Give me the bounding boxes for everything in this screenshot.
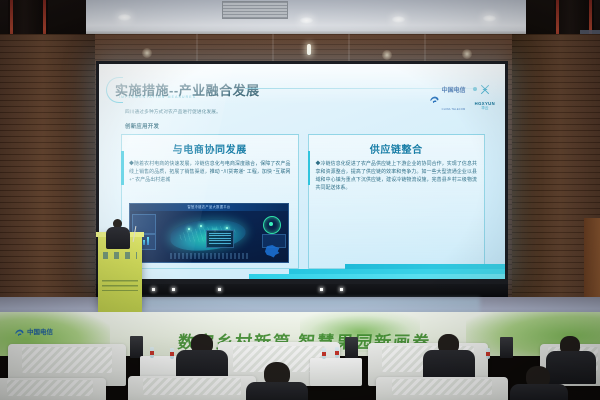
wall-lamp [462, 49, 472, 59]
dashboard-caption-text [170, 253, 250, 259]
dashboard-thumbnail: 智慧冷链农产品大数据平台 [129, 203, 289, 263]
downlight [392, 16, 405, 23]
water-bottle [170, 348, 174, 359]
presenter-body [106, 227, 130, 249]
china-telecom-logo: 中国电信 CHINA TELECOM [429, 79, 466, 115]
dashboard-bar [147, 237, 149, 245]
wall-lamp [142, 48, 152, 58]
dashboard-bar [143, 240, 145, 245]
dashboard-map-point [226, 227, 228, 229]
card-accent-bar [308, 151, 311, 185]
slide-logo-group: 中国电信 CHINA TELECOM HGXYUN 华云 [429, 79, 495, 115]
presenter [106, 219, 130, 249]
water-bottle [486, 348, 490, 359]
downlight [300, 17, 313, 24]
card-accent-bar [121, 151, 124, 185]
stage-edge-light [218, 288, 221, 291]
sofa-seat [128, 376, 256, 400]
hgxyun-logo: HGXYUN 华云 [475, 83, 495, 111]
backdrop-logo-text: 中国电信 [27, 326, 53, 336]
china-telecom-name-cn: 中国电信 [442, 88, 466, 94]
sofa-drape [22, 347, 112, 372]
floor-monitor-speaker [130, 336, 143, 358]
ceiling-air-vent [222, 1, 288, 19]
water-bottle [322, 348, 326, 359]
floor-monitor-speaker [345, 337, 358, 358]
downlight [483, 15, 496, 22]
water-bottle [150, 347, 154, 358]
sofa-drape [143, 378, 240, 395]
dashboard-map-point [188, 228, 190, 230]
wall-lamp [382, 50, 392, 60]
attendee-torso [510, 384, 568, 400]
hgxyun-icon [478, 83, 492, 100]
sofa-seat [0, 378, 106, 400]
hgxyun-name-cn: 华云 [475, 106, 495, 111]
slide-title-english: IMPLEMENTATION MEASURES [119, 95, 196, 99]
dashboard-title: 智慧冷链农产品大数据平台 [130, 204, 288, 211]
title-arc-decoration [106, 77, 123, 103]
stage-edge-light [172, 288, 175, 291]
card-title: 供应链整合 [316, 141, 478, 156]
sofa-seat [376, 377, 508, 400]
podium-sponsor-logos [103, 252, 137, 259]
sofa-drape [7, 380, 92, 396]
slide-accent-strip [345, 264, 505, 269]
slide-lead-text: 四川通过多种方式对农产品进行促进化发展。 [125, 109, 221, 115]
card-body-text: ◆随着农村电商的快速发展，冷链信息化与电商深度融合，保障了农产品线上销售的品质，… [129, 161, 291, 185]
backdrop-china-telecom-logo: 中国电信 [14, 325, 53, 336]
side-table [310, 358, 362, 386]
china-telecom-icon [14, 325, 25, 336]
slide-accent-strip [249, 274, 505, 279]
stage-edge-light [152, 288, 155, 291]
attendee-torso [546, 351, 596, 384]
china-telecom-name-en: CHINA TELECOM [442, 108, 466, 111]
card-body-text: ◆冷链信息化促进了农产品供应链上下游企业的协同合作，实现了信息共享和资源整合，提… [316, 161, 478, 193]
slide-section-label: 创新应用开发 [125, 122, 159, 130]
dashboard-map-point [200, 225, 202, 227]
floor-monitor-speaker [500, 337, 513, 358]
podium-event-text [102, 280, 138, 291]
slide-title-block: 实施措施--产业融合发展 IMPLEMENTATION MEASURES [115, 80, 260, 99]
ceiling [0, 0, 600, 34]
wood-pillar-left [0, 34, 95, 324]
stage-front-panel [96, 284, 508, 297]
slide-accent-strip [289, 269, 505, 274]
china-telecom-icon [429, 92, 440, 103]
card-title: 与电商协同发展 [129, 141, 291, 156]
card-supply-chain-integration: 供应链整合 ◆冷链信息化促进了农产品供应链上下游企业的协同合作，实现了信息共享和… [308, 134, 486, 269]
wall-sconce-light [307, 44, 311, 55]
presentation-screen[interactable]: 实施措施--产业融合发展 IMPLEMENTATION MEASURES 中国电… [99, 64, 505, 279]
sofa-drape [392, 379, 492, 395]
stage-edge-light [320, 288, 323, 291]
card-ecommerce-synergy: 与电商协同发展 ◆随着农村电商的快速发展，冷链信息化与电商深度融合，保障了农产品… [121, 134, 299, 269]
water-bottle [335, 347, 339, 358]
stage-edge-light [340, 288, 343, 291]
downlight [118, 14, 131, 21]
slide-card-row: 与电商协同发展 ◆随着农村电商的快速发展，冷链信息化与电商深度融合，保障了农产品… [121, 134, 485, 269]
dashboard-legend [206, 230, 234, 248]
attendee-torso [246, 382, 308, 400]
conference-hall-photo: 实施措施--产业融合发展 IMPLEMENTATION MEASURES 中国电… [0, 0, 600, 400]
dashboard-gauge [263, 216, 281, 234]
